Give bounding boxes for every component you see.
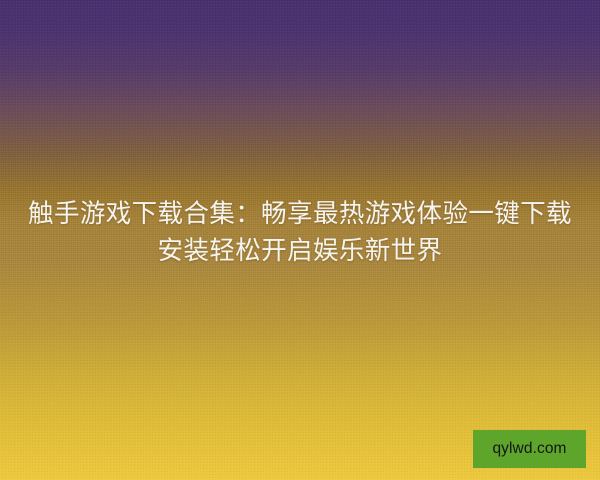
watermark-badge: qylwd.com <box>473 430 586 468</box>
page-title: 触手游戏下载合集：畅享最热游戏体验一键下载安装轻松开启娱乐新世界 <box>0 196 600 270</box>
watermark-label: qylwd.com <box>492 441 566 457</box>
cover-image: 触手游戏下载合集：畅享最热游戏体验一键下载安装轻松开启娱乐新世界 qylwd.c… <box>0 0 600 480</box>
